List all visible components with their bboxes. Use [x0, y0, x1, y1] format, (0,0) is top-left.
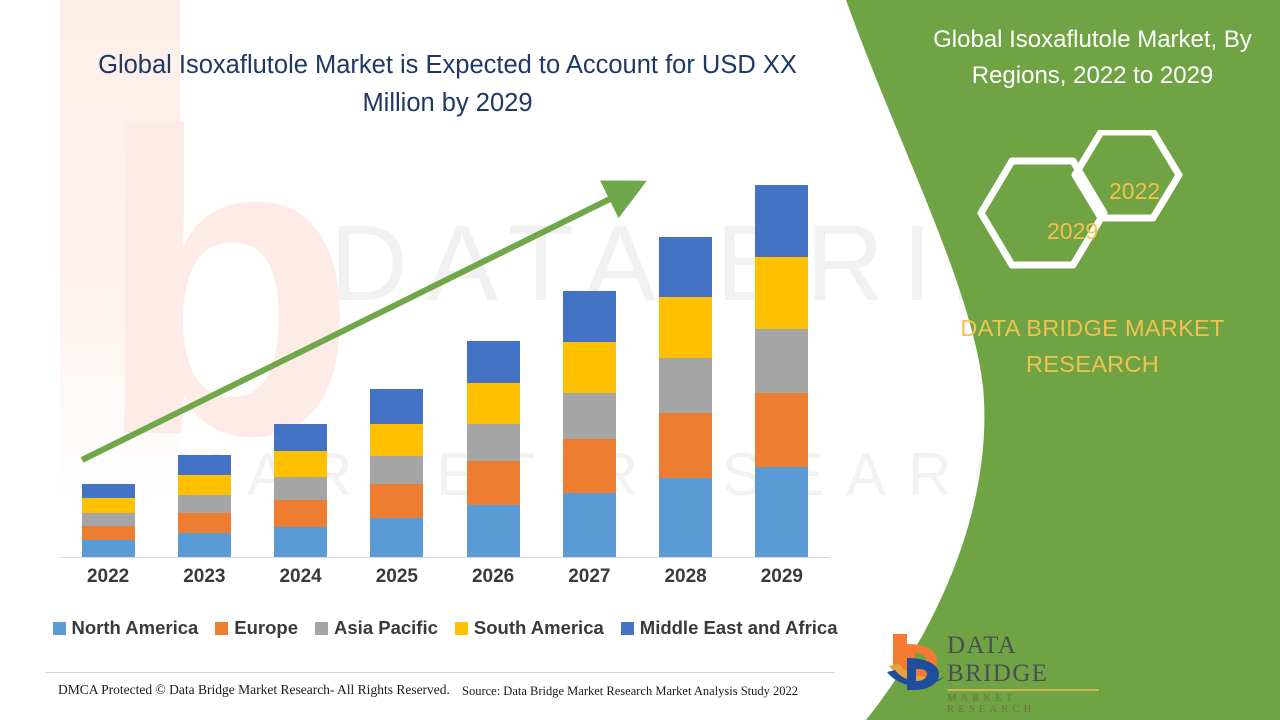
hexagon-label-end: 2029 — [1047, 218, 1098, 245]
x-axis-tick-2029: 2029 — [734, 566, 830, 588]
legend-label: South America — [474, 617, 604, 639]
bar-slot — [60, 150, 156, 557]
logo-text-block: DATA BRIDGE MARKET RESEARCH — [947, 632, 1102, 715]
stacked-bar[interactable] — [274, 424, 327, 557]
bar-segment[interactable] — [82, 498, 135, 513]
bar-segment[interactable] — [274, 477, 327, 500]
bar-slot — [253, 150, 349, 557]
stacked-bar[interactable] — [755, 185, 808, 557]
stacked-bar[interactable] — [659, 237, 712, 557]
legend-swatch-icon — [315, 622, 328, 635]
bar-segment[interactable] — [274, 451, 327, 477]
bar-segment[interactable] — [659, 297, 712, 358]
footer-source: Source: Data Bridge Market Research Mark… — [462, 684, 798, 699]
x-axis-labels: 20222023202420252026202720282029 — [60, 566, 830, 588]
bar-segment[interactable] — [659, 413, 712, 477]
x-axis-tick-2026: 2026 — [445, 566, 541, 588]
x-axis-tick-2023: 2023 — [156, 566, 252, 588]
x-axis-tick-2028: 2028 — [638, 566, 734, 588]
bar-segment[interactable] — [563, 342, 616, 393]
bar-slot — [445, 150, 541, 557]
bar-segment[interactable] — [467, 505, 520, 557]
bar-slot — [541, 150, 637, 557]
chart-plot-area — [60, 150, 830, 558]
stacked-bar[interactable] — [370, 389, 423, 557]
bar-slot — [734, 150, 830, 557]
bar-segment[interactable] — [178, 533, 231, 557]
legend-swatch-icon — [455, 622, 468, 635]
bar-segment[interactable] — [178, 475, 231, 495]
bar-segment[interactable] — [370, 484, 423, 518]
x-axis-tick-2024: 2024 — [253, 566, 349, 588]
bar-segment[interactable] — [563, 393, 616, 439]
bar-segment[interactable] — [274, 527, 327, 557]
bar-segment[interactable] — [659, 478, 712, 557]
bar-slot — [638, 150, 734, 557]
legend-swatch-icon — [53, 622, 66, 635]
bar-segment[interactable] — [178, 513, 231, 533]
bar-segment[interactable] — [467, 461, 520, 505]
bar-segment[interactable] — [755, 467, 808, 557]
bar-segment[interactable] — [755, 393, 808, 467]
chart-legend: North AmericaEuropeAsia PacificSouth Ame… — [55, 617, 835, 639]
x-axis-tick-2025: 2025 — [349, 566, 445, 588]
legend-swatch-icon — [621, 622, 634, 635]
bar-segment[interactable] — [755, 257, 808, 329]
panel-title: Global Isoxaflutole Market, By Regions, … — [910, 22, 1275, 94]
x-axis-tick-2022: 2022 — [60, 566, 156, 588]
legend-label: Asia Pacific — [334, 617, 438, 639]
bar-segment[interactable] — [178, 495, 231, 512]
legend-label: North America — [72, 617, 199, 639]
x-axis-tick-2027: 2027 — [541, 566, 637, 588]
bar-slot — [349, 150, 445, 557]
brand-name: DATA BRIDGE MARKET RESEARCH — [915, 310, 1270, 382]
footer-divider — [45, 672, 835, 673]
bar-segment[interactable] — [274, 500, 327, 527]
hexagon-label-start: 2022 — [1109, 178, 1160, 205]
bar-segment[interactable] — [563, 291, 616, 343]
stacked-bar-group — [60, 150, 830, 557]
hexagon-2029-shape — [981, 161, 1104, 265]
legend-label: Middle East and Africa — [640, 617, 838, 639]
bar-segment[interactable] — [467, 341, 520, 383]
stacked-bar[interactable] — [82, 484, 135, 557]
legend-label: Europe — [234, 617, 298, 639]
legend-swatch-icon — [215, 622, 228, 635]
legend-item[interactable]: North America — [53, 617, 199, 639]
bar-slot — [156, 150, 252, 557]
bar-segment[interactable] — [178, 455, 231, 475]
bar-segment[interactable] — [82, 540, 135, 557]
stacked-bar[interactable] — [178, 455, 231, 557]
logo-b-mark-icon — [885, 628, 947, 690]
bar-segment[interactable] — [82, 526, 135, 541]
legend-item[interactable]: Europe — [215, 617, 298, 639]
logo-primary-text: DATA BRIDGE — [947, 632, 1102, 688]
stacked-bar[interactable] — [467, 341, 520, 557]
logo-secondary-text: MARKET RESEARCH — [947, 693, 1102, 715]
legend-item[interactable]: Asia Pacific — [315, 617, 438, 639]
data-bridge-logo: DATA BRIDGE MARKET RESEARCH — [885, 628, 1105, 700]
bar-segment[interactable] — [659, 237, 712, 298]
bar-segment[interactable] — [82, 513, 135, 526]
bar-segment[interactable] — [274, 424, 327, 451]
x-axis-line — [60, 557, 830, 558]
bar-segment[interactable] — [755, 185, 808, 257]
bar-segment[interactable] — [370, 389, 423, 423]
bar-segment[interactable] — [467, 424, 520, 461]
bar-segment[interactable] — [370, 424, 423, 456]
footer-copyright: DMCA Protected © Data Bridge Market Rese… — [58, 682, 450, 698]
bar-segment[interactable] — [467, 383, 520, 424]
bar-segment[interactable] — [563, 439, 616, 492]
legend-item[interactable]: Middle East and Africa — [621, 617, 838, 639]
panel-content: Global Isoxaflutole Market, By Regions, … — [905, 0, 1280, 720]
bar-segment[interactable] — [82, 484, 135, 498]
bar-segment[interactable] — [755, 329, 808, 393]
legend-item[interactable]: South America — [455, 617, 604, 639]
stacked-bar[interactable] — [563, 291, 616, 557]
page-title: Global Isoxaflutole Market is Expected t… — [60, 46, 835, 122]
bar-segment[interactable] — [370, 518, 423, 557]
hexagon-2022-shape — [1075, 132, 1179, 218]
bar-segment[interactable] — [563, 493, 616, 557]
hexagon-group: 2022 2029 — [965, 130, 1205, 295]
bar-segment[interactable] — [370, 456, 423, 485]
logo-divider — [947, 689, 1099, 691]
slide-canvas: b DATA BRIDGE MARKET RESEARCH Global Iso… — [0, 0, 1280, 720]
bar-segment[interactable] — [659, 358, 712, 413]
